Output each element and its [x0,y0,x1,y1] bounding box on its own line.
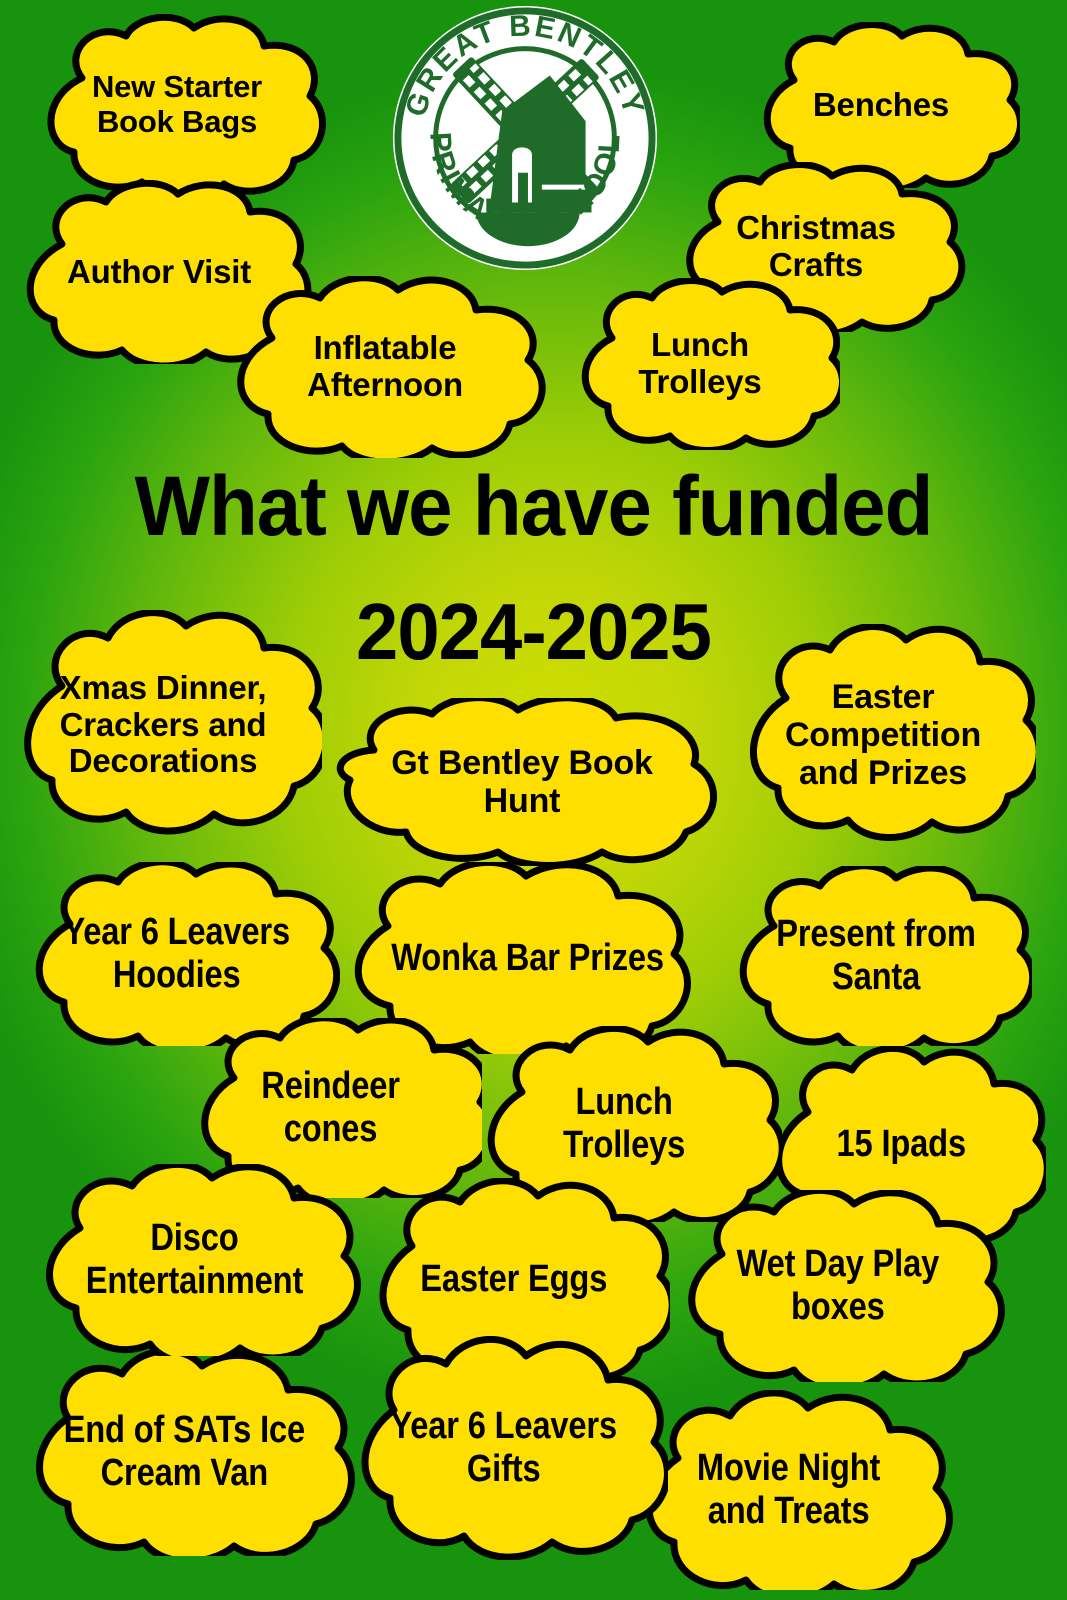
cloud-label: Benches [807,87,955,124]
cloud-label: Wonka Bar Prizes [386,937,669,980]
cloud-movie-night-and-treats: Movie Night and Treats [624,1390,954,1590]
cloud-label: Gt Bentley Book Hunt [385,744,658,820]
cloud-label: Easter Eggs [415,1258,612,1301]
cloud-label: 15 Ipads [831,1123,971,1166]
cloud-label: Year 6 Leavers Hoodies [59,911,296,996]
cloud-label: Year 6 Leavers Gifts [386,1405,623,1490]
cloud-label: Lunch Trolleys [558,1081,690,1166]
cloud-label: Lunch Trolleys [632,327,767,401]
school-logo: GREAT BENTLEY PRIMARY SCHOOL [390,4,660,272]
cloud-disco-entertainment: Disco Entertainment [24,1164,364,1356]
cloud-year-6-leavers-gifts: Year 6 Leavers Gifts [340,1336,668,1560]
cloud-label: Movie Night and Treats [692,1447,886,1532]
funded-poster: New Starter Book Bags Benches Christmas … [0,0,1067,1600]
cloud-label: Reindeer cones [257,1065,406,1150]
cloud-label: Wet Day Play boxes [732,1243,945,1328]
cloud-label: Inflatable Afternoon [301,330,469,404]
page-title: What we have funded [27,464,1041,548]
cloud-label: Disco Entertainment [80,1217,308,1302]
cloud-new-starter-book-bags: New Starter Book Bags [24,14,330,196]
page-subtitle-year: 2024-2025 [27,592,1041,672]
cloud-label: New Starter Book Bags [86,70,268,139]
cloud-label: End of SATs Ice Cream Van [58,1409,310,1494]
cloud-label: Xmas Dinner, Crackers and Decorations [54,670,273,781]
cloud-lunch-trolleys-top: Lunch Trolleys [560,278,840,450]
cloud-inflatable-afternoon: Inflatable Afternoon [210,276,560,458]
cloud-present-from-santa: Present from Santa [720,866,1032,1046]
cloud-label: Present from Santa [771,913,981,998]
cloud-end-of-sats-ice-cream-van: End of SATs Ice Cream Van [12,1348,356,1556]
logo-text-bottom: PRIMARY SCHOOL [423,131,627,240]
cloud-gt-bentley-book-hunt: Gt Bentley Book Hunt [312,698,732,866]
cloud-label: Easter Competition and Prizes [779,678,987,792]
school-logo-icon: GREAT BENTLEY PRIMARY SCHOOL [390,4,660,272]
logo-text-top: GREAT BENTLEY [399,9,651,120]
cloud-label: Christmas Crafts [730,210,902,284]
